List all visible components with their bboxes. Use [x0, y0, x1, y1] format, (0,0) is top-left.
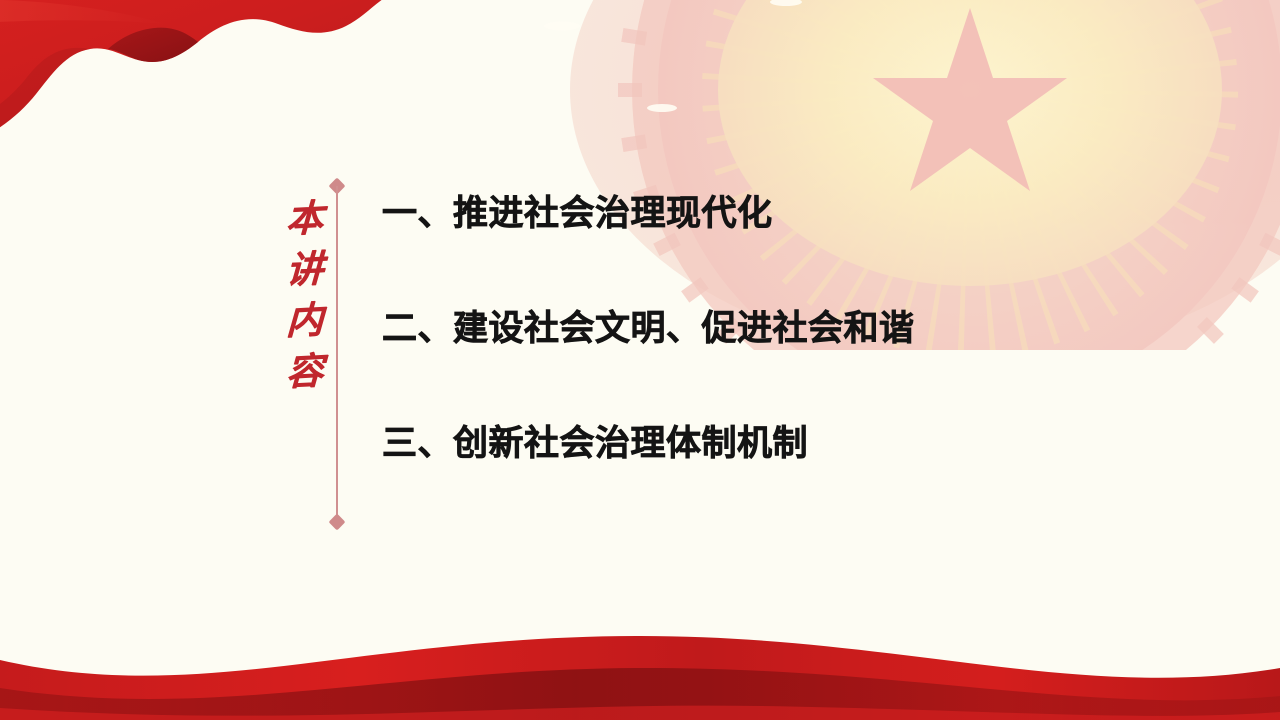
vertical-divider	[330, 178, 344, 530]
agenda-item-1[interactable]: 一、 推进社会治理现代化	[382, 196, 1202, 311]
five-point-star-shape	[873, 8, 1067, 191]
divider-diamond-bottom-icon	[329, 514, 346, 531]
agenda-item-1-index: 一、	[382, 196, 453, 231]
section-label-char-3: 内	[285, 301, 323, 340]
agenda-list: 一、 推进社会治理现代化 二、 建设社会文明、促进社会和谐 三、 创新社会治理体…	[382, 196, 1202, 541]
agenda-item-1-label: 推进社会治理现代化	[453, 196, 773, 231]
agenda-item-3-label: 创新社会治理体制机制	[453, 426, 808, 461]
section-label-vertical: 本 讲 内 容	[278, 200, 330, 390]
agenda-item-2[interactable]: 二、 建设社会文明、促进社会和谐	[382, 311, 1202, 426]
agenda-item-3[interactable]: 三、 创新社会治理体制机制	[382, 426, 1202, 541]
agenda-item-2-label: 建设社会文明、促进社会和谐	[453, 311, 915, 346]
section-label-char-2: 讲	[285, 250, 323, 289]
section-label-char-4: 容	[285, 352, 323, 391]
light-flecks	[544, 0, 1025, 112]
agenda-item-2-index: 二、	[382, 311, 453, 346]
agenda-item-3-index: 三、	[382, 426, 453, 461]
section-label-char-1: 本	[285, 199, 323, 238]
divider-line	[336, 186, 338, 522]
red-ribbon-decoration	[0, 0, 390, 204]
presentation-slide: 本 讲 内 容 一、 推进社会治理现代化 二、 建设社会文明、促进社会和谐 三、…	[0, 0, 1280, 720]
red-wave-decoration	[0, 610, 1280, 720]
